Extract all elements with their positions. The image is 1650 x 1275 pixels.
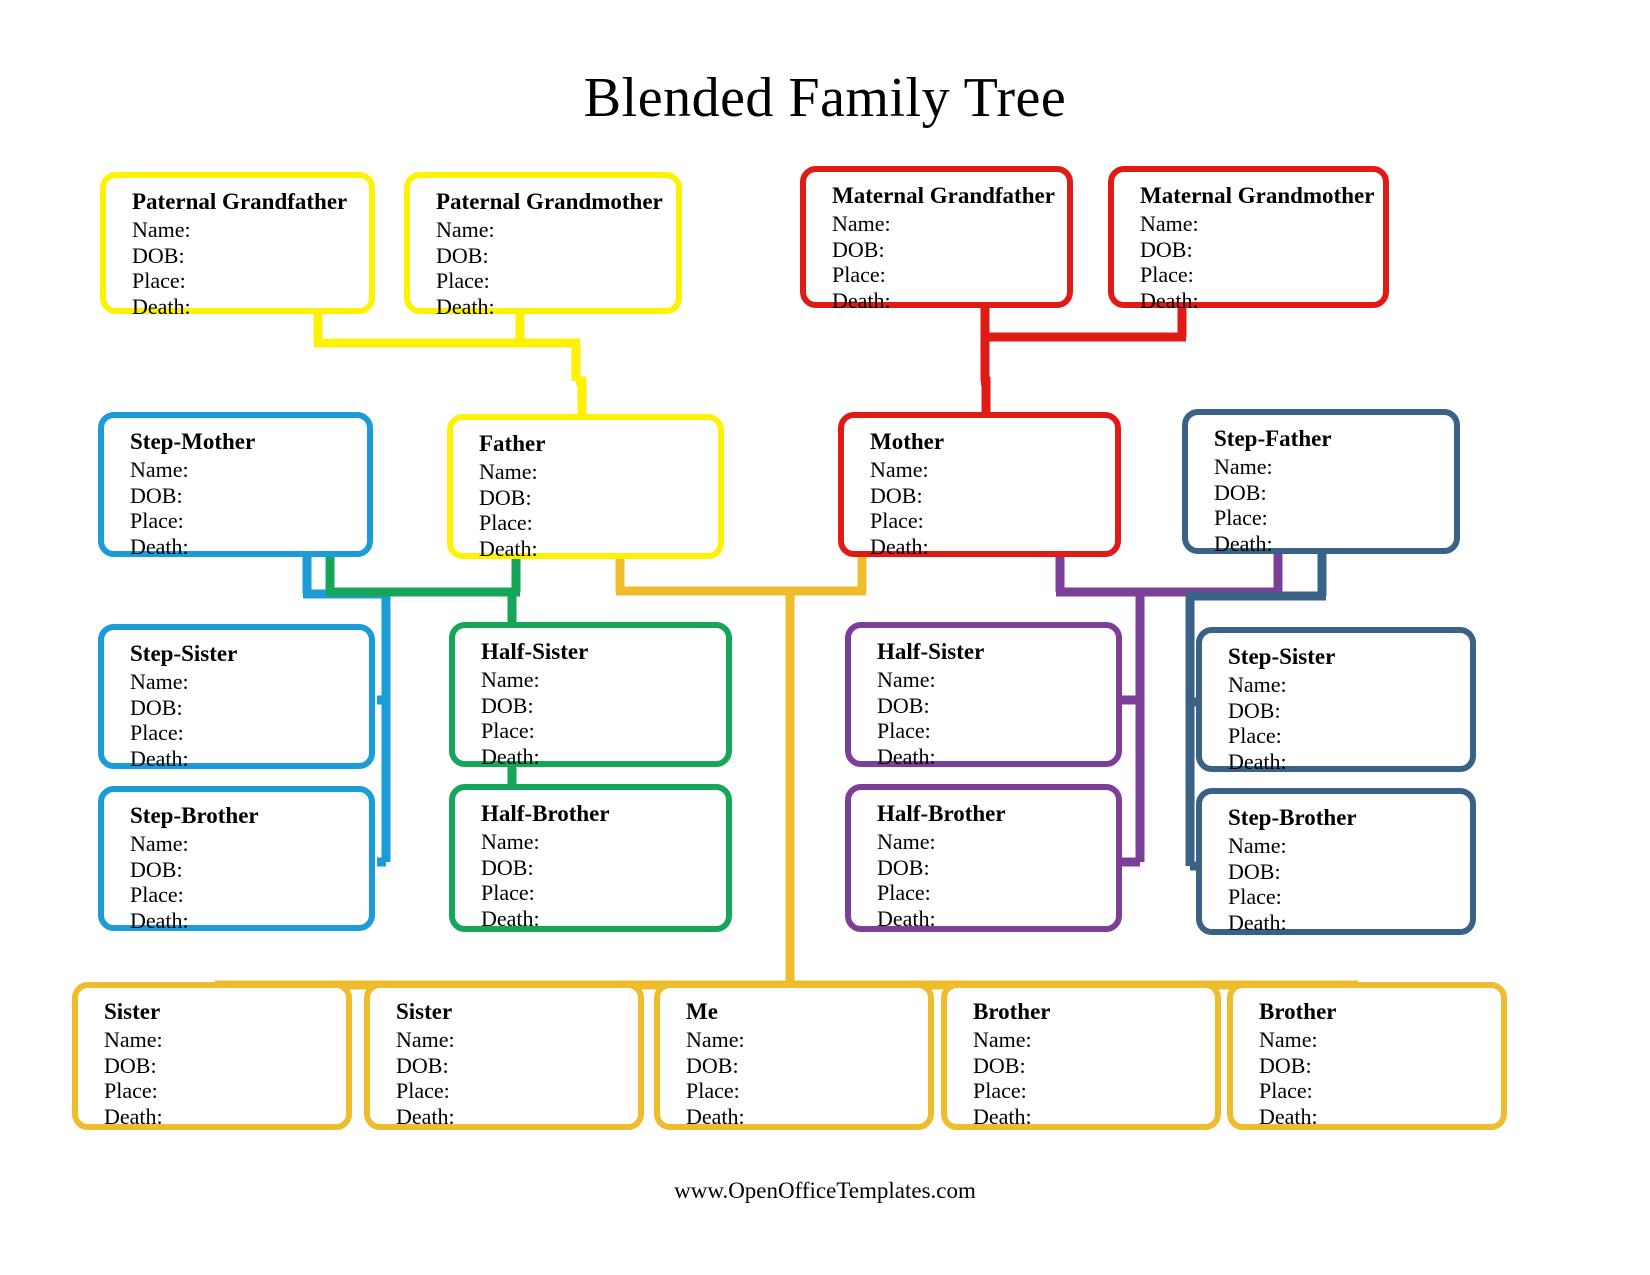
node-mother[interactable]: MotherName:DOB:Place:Death: bbox=[838, 412, 1121, 557]
node-brother-2[interactable]: BrotherName:DOB:Place:Death: bbox=[1227, 982, 1507, 1130]
node-title: Sister bbox=[104, 1000, 346, 1023]
field-dob: DOB: bbox=[1228, 859, 1470, 885]
node-title: Brother bbox=[973, 1000, 1215, 1023]
field-name: Name: bbox=[130, 457, 367, 483]
field-name: Name: bbox=[130, 831, 369, 857]
field-death: Death: bbox=[870, 534, 1115, 560]
node-title: Paternal Grandfather bbox=[132, 190, 369, 213]
field-place: Place: bbox=[1228, 723, 1470, 749]
field-dob: DOB: bbox=[132, 243, 369, 269]
field-name: Name: bbox=[1259, 1027, 1501, 1053]
field-dob: DOB: bbox=[130, 483, 367, 509]
field-name: Name: bbox=[130, 669, 369, 695]
node-title: Brother bbox=[1259, 1000, 1501, 1023]
field-death: Death: bbox=[1228, 910, 1470, 936]
field-death: Death: bbox=[130, 746, 369, 772]
field-name: Name: bbox=[870, 457, 1115, 483]
field-death: Death: bbox=[1228, 749, 1470, 775]
node-title: Sister bbox=[396, 1000, 638, 1023]
field-dob: DOB: bbox=[130, 857, 369, 883]
field-place: Place: bbox=[132, 268, 369, 294]
node-title: Step-Mother bbox=[130, 430, 367, 453]
family-tree-diagram: Blended Family Tree bbox=[0, 0, 1650, 1275]
field-death: Death: bbox=[1214, 531, 1454, 557]
field-name: Name: bbox=[1228, 672, 1470, 698]
field-place: Place: bbox=[130, 882, 369, 908]
field-dob: DOB: bbox=[870, 483, 1115, 509]
field-name: Name: bbox=[436, 217, 676, 243]
field-name: Name: bbox=[481, 667, 726, 693]
field-death: Death: bbox=[396, 1104, 638, 1130]
field-place: Place: bbox=[104, 1078, 346, 1104]
node-brother-1[interactable]: BrotherName:DOB:Place:Death: bbox=[941, 982, 1221, 1130]
field-death: Death: bbox=[973, 1104, 1215, 1130]
field-name: Name: bbox=[973, 1027, 1215, 1053]
field-death: Death: bbox=[1140, 288, 1383, 314]
node-title: Father bbox=[479, 432, 718, 455]
node-maternal-grandmother[interactable]: Maternal GrandmotherName:DOB:Place:Death… bbox=[1108, 166, 1389, 308]
field-dob: DOB: bbox=[877, 693, 1116, 719]
node-half-brother-right[interactable]: Half-BrotherName:DOB:Place:Death: bbox=[845, 784, 1122, 932]
node-father[interactable]: FatherName:DOB:Place:Death: bbox=[447, 414, 724, 559]
node-maternal-grandfather[interactable]: Maternal GrandfatherName:DOB:Place:Death… bbox=[800, 166, 1073, 308]
connector-maternal-grandparents bbox=[981, 306, 1186, 416]
field-place: Place: bbox=[877, 880, 1116, 906]
field-name: Name: bbox=[1214, 454, 1454, 480]
field-dob: DOB: bbox=[877, 855, 1116, 881]
field-place: Place: bbox=[130, 508, 367, 534]
field-death: Death: bbox=[481, 906, 726, 932]
field-death: Death: bbox=[877, 744, 1116, 770]
field-dob: DOB: bbox=[479, 485, 718, 511]
field-dob: DOB: bbox=[1214, 480, 1454, 506]
field-death: Death: bbox=[130, 908, 369, 934]
field-name: Name: bbox=[877, 667, 1116, 693]
node-step-sister-right[interactable]: Step-SisterName:DOB:Place:Death: bbox=[1196, 627, 1476, 772]
field-place: Place: bbox=[481, 718, 726, 744]
field-name: Name: bbox=[1228, 833, 1470, 859]
field-death: Death: bbox=[130, 534, 367, 560]
field-death: Death: bbox=[481, 744, 726, 770]
field-dob: DOB: bbox=[481, 693, 726, 719]
field-dob: DOB: bbox=[1140, 237, 1383, 263]
field-place: Place: bbox=[832, 262, 1067, 288]
field-place: Place: bbox=[686, 1078, 928, 1104]
field-name: Name: bbox=[104, 1027, 346, 1053]
field-place: Place: bbox=[481, 880, 726, 906]
field-name: Name: bbox=[1140, 211, 1383, 237]
node-title: Half-Sister bbox=[481, 640, 726, 663]
field-place: Place: bbox=[1259, 1078, 1501, 1104]
node-step-sister-left[interactable]: Step-SisterName:DOB:Place:Death: bbox=[98, 624, 375, 769]
field-name: Name: bbox=[479, 459, 718, 485]
node-sister-1[interactable]: SisterName:DOB:Place:Death: bbox=[72, 982, 352, 1130]
field-name: Name: bbox=[396, 1027, 638, 1053]
node-title: Step-Sister bbox=[1228, 645, 1470, 668]
node-title: Maternal Grandmother bbox=[1140, 184, 1383, 207]
node-paternal-grandmother[interactable]: Paternal GrandmotherName:DOB:Place:Death… bbox=[404, 172, 682, 314]
field-dob: DOB: bbox=[481, 855, 726, 881]
node-me[interactable]: MeName:DOB:Place:Death: bbox=[654, 982, 934, 1130]
field-place: Place: bbox=[870, 508, 1115, 534]
node-title: Step-Brother bbox=[130, 804, 369, 827]
node-half-sister-left[interactable]: Half-SisterName:DOB:Place:Death: bbox=[449, 622, 732, 767]
node-half-sister-right[interactable]: Half-SisterName:DOB:Place:Death: bbox=[845, 622, 1122, 767]
node-title: Half-Brother bbox=[481, 802, 726, 825]
field-place: Place: bbox=[436, 268, 676, 294]
field-dob: DOB: bbox=[104, 1053, 346, 1079]
field-dob: DOB: bbox=[396, 1053, 638, 1079]
field-dob: DOB: bbox=[686, 1053, 928, 1079]
node-title: Step-Brother bbox=[1228, 806, 1470, 829]
field-name: Name: bbox=[481, 829, 726, 855]
field-place: Place: bbox=[1214, 505, 1454, 531]
field-death: Death: bbox=[132, 294, 369, 320]
field-death: Death: bbox=[877, 906, 1116, 932]
field-dob: DOB: bbox=[1259, 1053, 1501, 1079]
node-title: Step-Sister bbox=[130, 642, 369, 665]
field-dob: DOB: bbox=[130, 695, 369, 721]
field-dob: DOB: bbox=[1228, 698, 1470, 724]
field-dob: DOB: bbox=[832, 237, 1067, 263]
footer-url: www.OpenOfficeTemplates.com bbox=[0, 1178, 1650, 1204]
field-place: Place: bbox=[130, 720, 369, 746]
node-half-brother-left[interactable]: Half-BrotherName:DOB:Place:Death: bbox=[449, 784, 732, 932]
node-step-father[interactable]: Step-FatherName:DOB:Place:Death: bbox=[1182, 409, 1460, 554]
node-step-mother[interactable]: Step-MotherName:DOB:Place:Death: bbox=[98, 412, 373, 557]
field-place: Place: bbox=[877, 718, 1116, 744]
node-title: Paternal Grandmother bbox=[436, 190, 676, 213]
node-sister-2[interactable]: SisterName:DOB:Place:Death: bbox=[364, 982, 644, 1130]
field-death: Death: bbox=[832, 288, 1067, 314]
field-death: Death: bbox=[1259, 1104, 1501, 1130]
field-dob: DOB: bbox=[436, 243, 676, 269]
field-place: Place: bbox=[396, 1078, 638, 1104]
field-dob: DOB: bbox=[973, 1053, 1215, 1079]
field-death: Death: bbox=[479, 536, 718, 562]
node-title: Mother bbox=[870, 430, 1115, 453]
node-paternal-grandfather[interactable]: Paternal GrandfatherName:DOB:Place:Death… bbox=[100, 172, 375, 314]
node-title: Me bbox=[686, 1000, 928, 1023]
field-place: Place: bbox=[973, 1078, 1215, 1104]
field-place: Place: bbox=[1140, 262, 1383, 288]
node-title: Half-Sister bbox=[877, 640, 1116, 663]
field-name: Name: bbox=[132, 217, 369, 243]
field-name: Name: bbox=[686, 1027, 928, 1053]
node-step-brother-left[interactable]: Step-BrotherName:DOB:Place:Death: bbox=[98, 786, 375, 931]
field-place: Place: bbox=[1228, 884, 1470, 910]
field-death: Death: bbox=[686, 1104, 928, 1130]
field-death: Death: bbox=[104, 1104, 346, 1130]
node-step-brother-right[interactable]: Step-BrotherName:DOB:Place:Death: bbox=[1196, 788, 1476, 935]
node-title: Maternal Grandfather bbox=[832, 184, 1067, 207]
field-name: Name: bbox=[877, 829, 1116, 855]
node-title: Half-Brother bbox=[877, 802, 1116, 825]
field-death: Death: bbox=[436, 294, 676, 320]
field-place: Place: bbox=[479, 510, 718, 536]
field-name: Name: bbox=[832, 211, 1067, 237]
connector-paternal-grandparents bbox=[314, 312, 586, 418]
node-title: Step-Father bbox=[1214, 427, 1454, 450]
